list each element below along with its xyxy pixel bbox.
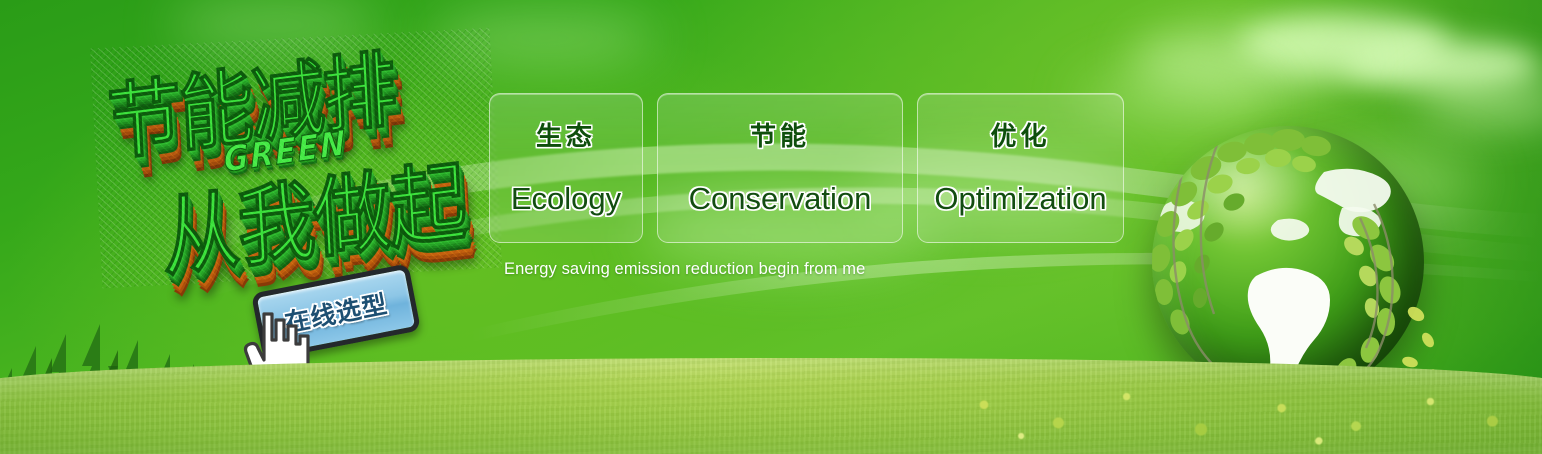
globe-highlight [1180, 148, 1330, 244]
fallen-leaves-icon [922, 372, 1542, 454]
feature-card-cn-label: 生态 [536, 116, 596, 153]
feature-card-ecology[interactable]: 生态 Ecology [489, 93, 643, 243]
feature-card-conservation[interactable]: 节能 Conservation [657, 93, 903, 243]
feature-card-en-label: Conservation [689, 181, 872, 217]
eco-hero-banner: 节能减排 GREEN 从我做起 在线选型 生态 Ecology 节能 Conse… [0, 0, 1542, 454]
feature-card-cn-label: 节能 [750, 116, 810, 153]
feature-card-optimization[interactable]: 优化 Optimization [917, 93, 1124, 243]
banner-tagline: Energy saving emission reduction begin f… [504, 260, 865, 279]
feature-card-en-label: Ecology [511, 181, 621, 217]
feature-card-en-label: Optimization [934, 181, 1106, 217]
feature-card-list: 生态 Ecology 节能 Conservation 优化 Optimizati… [489, 93, 1124, 243]
online-selection-cta[interactable]: 在线选型 [256, 278, 416, 364]
feature-card-cn-label: 优化 [990, 116, 1050, 153]
hero-title-artwork: 节能减排 GREEN 从我做起 [90, 28, 502, 289]
